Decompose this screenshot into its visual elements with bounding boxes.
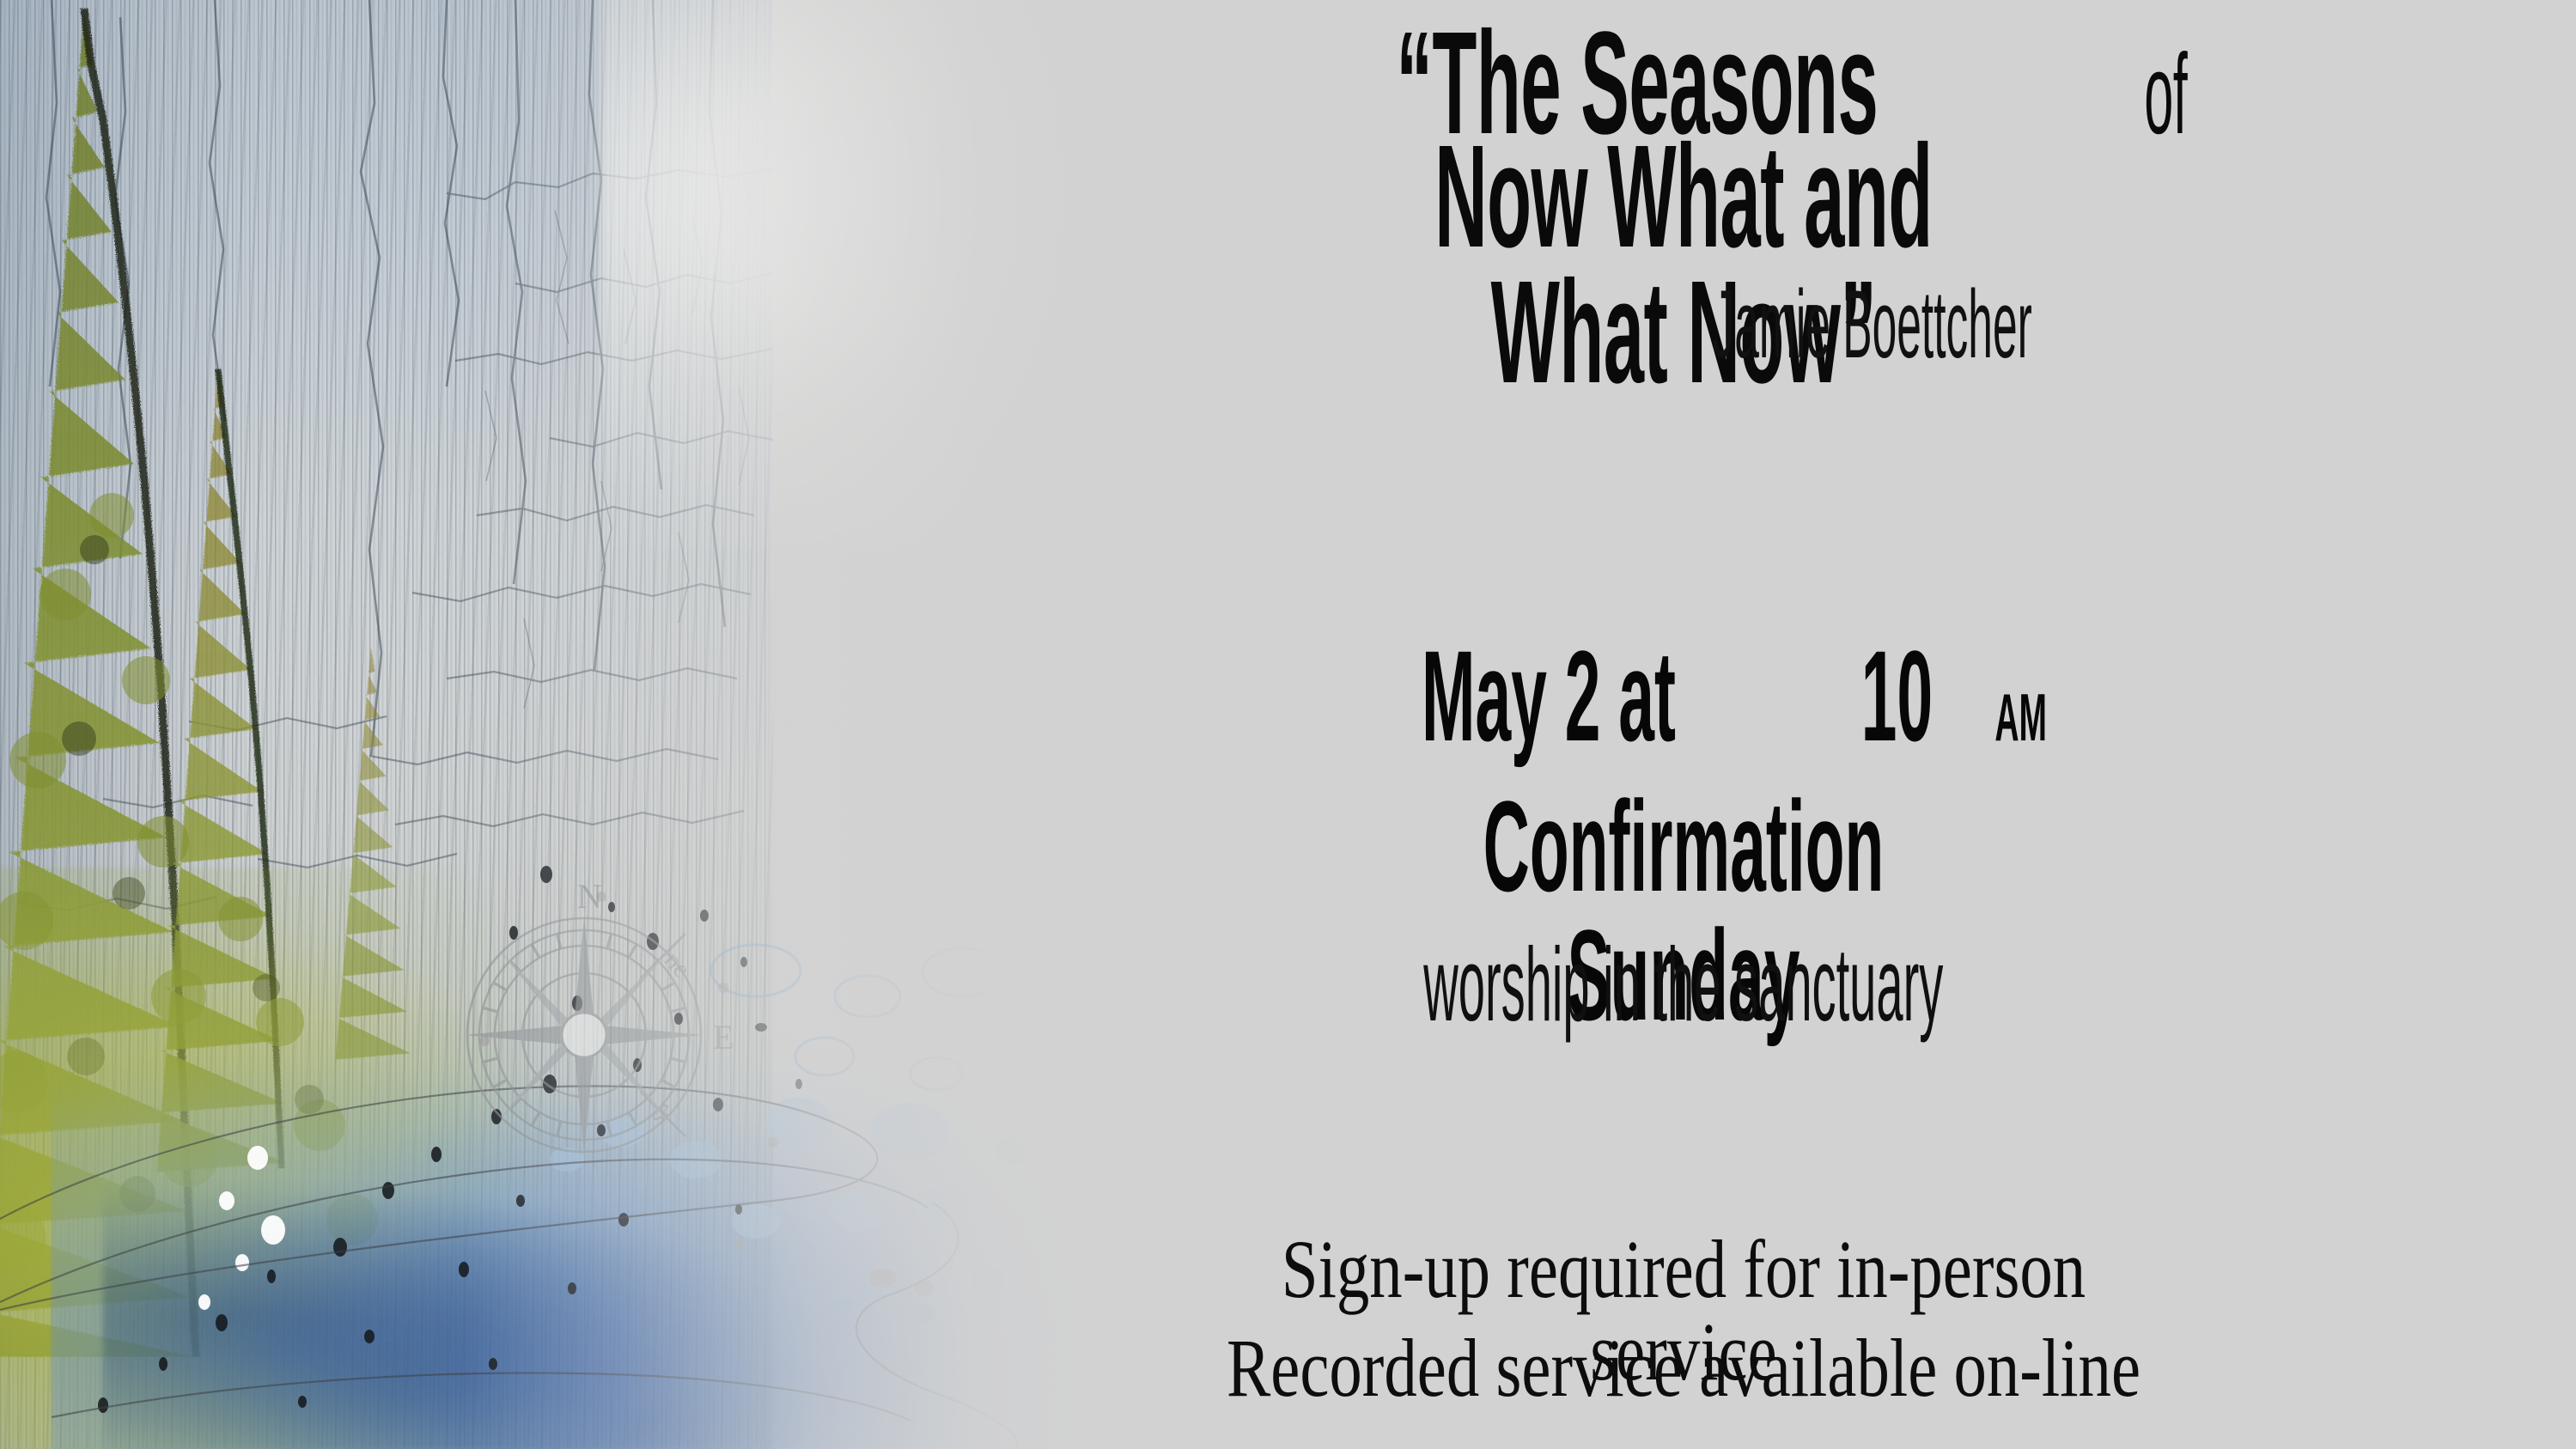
announcement-text-block: “The Seasonsof Now What and What Now” Ja… (1108, 0, 2568, 1449)
service-venue: worship in the sanctuary (1074, 932, 2293, 1037)
recording-note-text: Recorded service available on-line (1227, 1327, 2141, 1409)
service-time-number: 10 (1861, 631, 1933, 760)
service-venue-text: worship in the sanctuary (1423, 932, 1943, 1037)
speaker-name-text: Jamie Boettcher (1712, 277, 2031, 373)
artwork-collage: N E ne se (0, 0, 1203, 1449)
service-time-meridiem: AM (1994, 684, 2047, 751)
recording-note: Recorded service available on-line (1074, 1327, 2293, 1409)
service-date-text: May 2 at (1422, 631, 1676, 760)
sermon-announcement-poster: N E ne se “The Seasonsof Now What and Wh… (0, 0, 2576, 1449)
service-date-time: May 2 at10AM (1074, 631, 2293, 760)
speaker-name: Jamie Boettcher (1074, 277, 2293, 373)
